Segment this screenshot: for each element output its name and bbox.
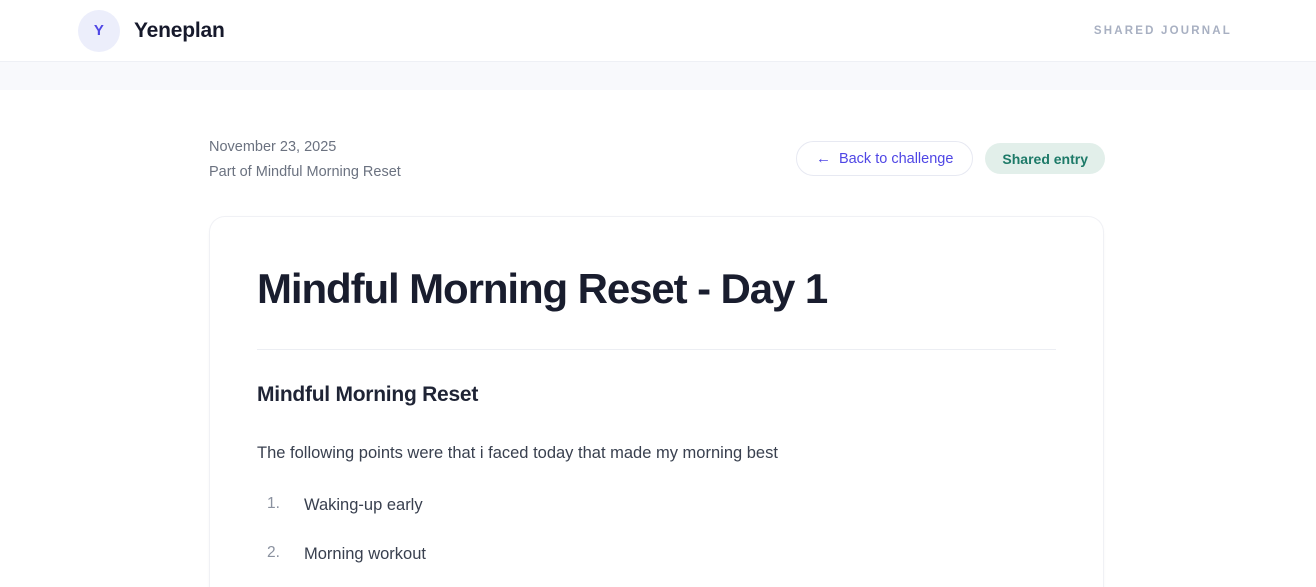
status-badge: Shared entry: [985, 143, 1105, 174]
arrow-left-icon: ←: [816, 151, 831, 166]
page-title: Mindful Morning Reset - Day 1: [257, 265, 1056, 312]
list-item: Morning workout: [267, 541, 1056, 567]
page-body: November 23, 2025 Part of Mindful Mornin…: [0, 90, 1316, 587]
subheader-band: [0, 62, 1316, 90]
back-to-challenge-button[interactable]: ← Back to challenge: [796, 141, 973, 176]
entry-actions: ← Back to challenge Shared entry: [796, 137, 1105, 176]
entry-challenge-subtitle: Part of Mindful Morning Reset: [209, 162, 401, 183]
content-heading: Mindful Morning Reset: [257, 383, 1056, 407]
entry-date: November 23, 2025: [209, 137, 401, 158]
entry-card: Mindful Morning Reset - Day 1 Mindful Mo…: [209, 216, 1104, 587]
back-to-challenge-label: Back to challenge: [839, 151, 953, 167]
entry-content: Mindful Morning Reset The following poin…: [257, 350, 1056, 567]
content-wrapper: November 23, 2025 Part of Mindful Mornin…: [209, 90, 1105, 587]
brand[interactable]: Y Yeneplan: [78, 10, 225, 52]
content-paragraph: The following points were that i faced t…: [257, 440, 1056, 466]
avatar: Y: [78, 10, 120, 52]
list-item: Waking-up early: [267, 492, 1056, 518]
content-ordered-list: Waking-up early Morning workout: [257, 492, 1056, 567]
brand-name: Yeneplan: [134, 19, 225, 43]
app-header: Y Yeneplan SHARED JOURNAL: [0, 0, 1316, 62]
entry-meta: November 23, 2025 Part of Mindful Mornin…: [209, 137, 401, 183]
shared-journal-label: SHARED JOURNAL: [1094, 25, 1232, 37]
entry-meta-row: November 23, 2025 Part of Mindful Mornin…: [209, 90, 1105, 183]
